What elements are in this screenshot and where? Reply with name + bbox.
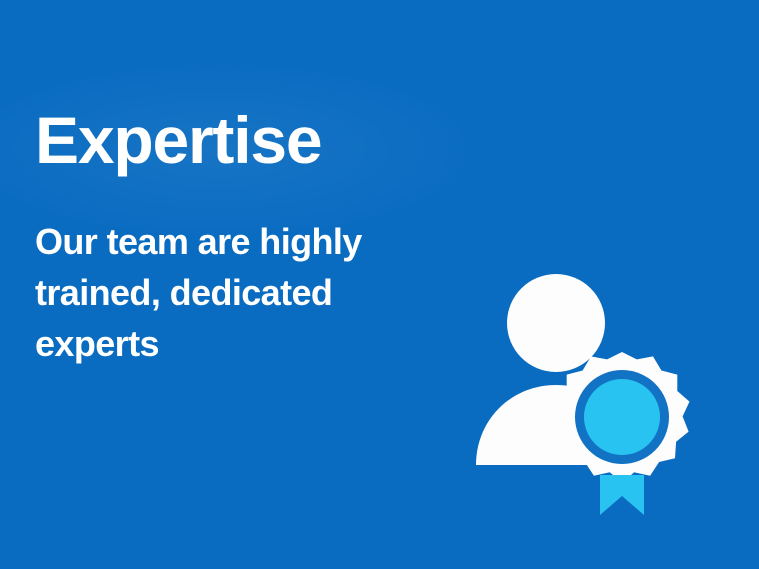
expertise-slide: Expertise Our team are highlytrained, de… <box>0 0 759 569</box>
certified-expert-person-badge-icon <box>466 265 706 515</box>
award-ribbon-icon <box>600 475 644 515</box>
subtitle: Our team are highlytrained, dedicatedexp… <box>35 216 465 369</box>
subtitle-line-2: trained, dedicated <box>35 272 332 313</box>
subtitle-line-1: Our team are highly <box>35 221 362 262</box>
subtitle-line-3: experts <box>35 323 159 364</box>
page-title: Expertise <box>35 104 321 176</box>
award-inner-circle-icon <box>584 379 660 455</box>
person-head-icon <box>507 274 605 372</box>
